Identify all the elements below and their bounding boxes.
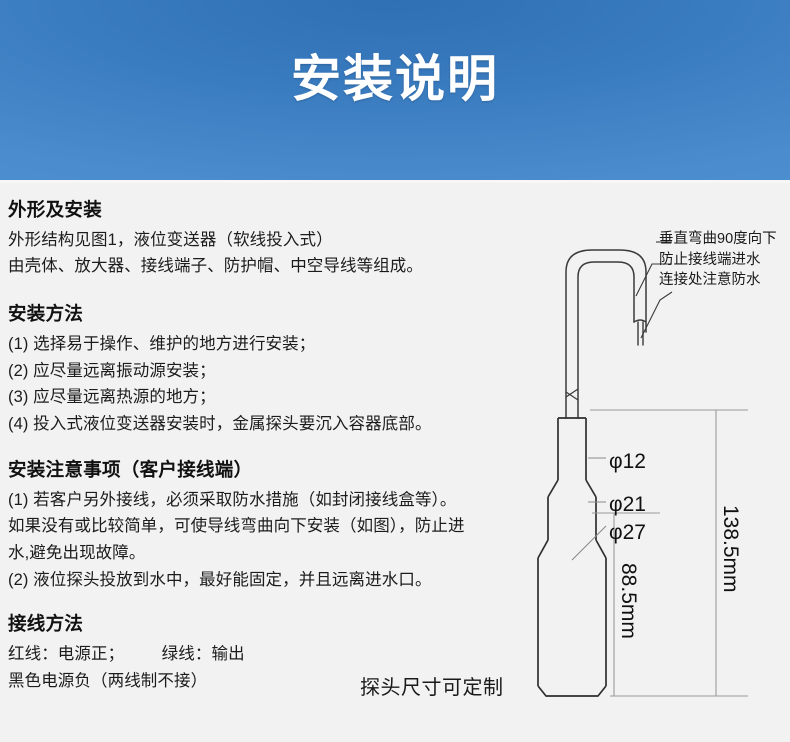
spacer [8,442,528,456]
probe-taper-upper-right [586,480,596,497]
section-appearance-install: 外形及安装 外形结构见图1，液位变送器（软线投入式） 由壳体、放大器、接线端子、… [8,196,528,280]
section-heading: 安装方法 [8,300,528,328]
page-title: 安装说明 [0,52,790,107]
section-line: (1) 若客户另外接线，必须采取防水措施（如封闭接线盒等）。 [8,487,528,514]
diameter-label-phi12: φ12 [609,450,646,474]
section-line: (2) 液位探头投放到水中，最好能固定，并且远离进水口。 [8,567,528,594]
section-install-precautions: 安装注意事项（客户接线端） (1) 若客户另外接线，必须采取防水措施（如封闭接线… [8,456,528,594]
cable-twist-mark [566,389,578,397]
section-heading: 接线方法 [8,610,528,638]
probe-taper-lower-right [596,540,606,558]
banner-divider [0,180,790,183]
section-line: 如果没有或比较简单，可使导线弯曲向下安装（如图），防止进 [8,513,528,540]
annotation-line: 防止接线端进水 [659,250,777,271]
spacer [8,597,528,610]
annotation-line: 垂直弯曲90度向下 [659,229,777,250]
spacer [8,284,528,300]
probe-base [538,686,606,696]
probe-taper-upper-left [548,480,558,497]
section-line: 水,避免出现故障。 [8,540,528,567]
section-line: (2) 应尽量远离振动源安装； [8,358,528,385]
annotation-line: 连接处注意防水 [659,270,777,291]
section-line: 由壳体、放大器、接线端子、防护帽、中空导线等组成。 [8,253,528,280]
section-line: (1) 选择易于操作、维护的地方进行安装； [8,331,528,358]
cable-annotations: 垂直弯曲90度向下 防止接线端进水 连接处注意防水 [659,229,777,291]
section-line: (3) 应尽量远离热源的地方； [8,384,528,411]
instructions-text-column: 外形及安装 外形结构见图1，液位变送器（软线投入式） 由壳体、放大器、接线端子、… [8,196,528,699]
diameter-leader-phi27 [572,526,606,560]
section-line: 红线：电源正； 绿线：输出 [8,641,528,668]
section-heading: 安装注意事项（客户接线端） [8,456,528,484]
cable-inner-line [578,262,634,418]
cable-terminal-icon [638,322,643,345]
length-label-inner: 88.5mm [616,563,640,639]
annotation-leader-3 [641,292,672,338]
length-label-total: 138.5mm [718,505,742,593]
header-banner: 安装说明 [0,0,790,180]
section-line: (4) 投入式液位变送器安装时，金属探头要沉入容器底部。 [8,411,528,438]
diameter-label-phi21: φ21 [609,493,646,517]
section-line: 外形结构见图1，液位变送器（软线投入式） [8,227,528,254]
cable-twist-mark [566,392,578,400]
section-install-method: 安装方法 (1) 选择易于操作、维护的地方进行安装； (2) 应尽量远离振动源安… [8,300,528,438]
probe-taper-lower-left [538,540,548,558]
diagram-caption: 探头尺寸可定制 [360,671,504,700]
section-heading: 外形及安装 [8,196,528,224]
diameter-label-phi27: φ27 [609,521,646,545]
cable-outer-line [566,250,646,418]
cable-terminal-cap [634,320,646,322]
